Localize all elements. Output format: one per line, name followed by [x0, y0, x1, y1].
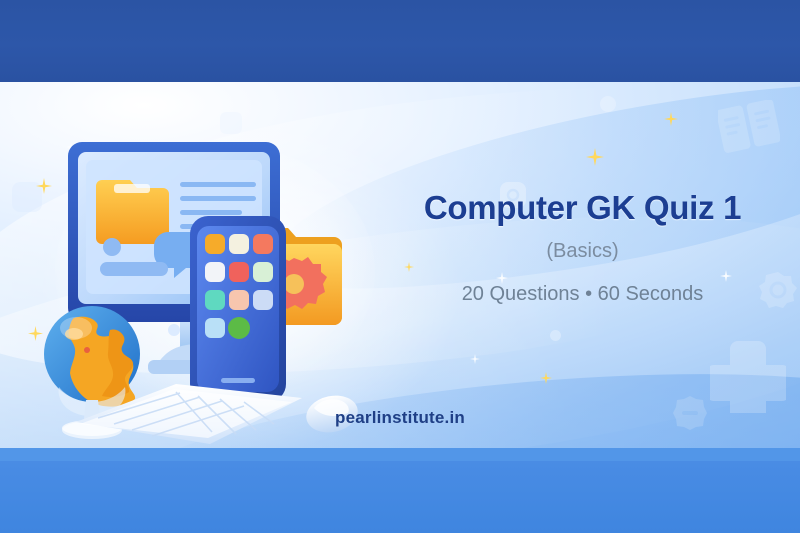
badge-icon	[758, 270, 798, 310]
book-icon	[718, 100, 780, 156]
subtitle: (Basics)	[410, 240, 755, 263]
quiz-banner: Computer GK Quiz 1 (Basics) 20 Questions…	[0, 0, 800, 533]
sparkle-icon	[540, 372, 552, 384]
computer-desk-illustration	[40, 122, 380, 452]
smartphone	[190, 216, 286, 402]
quiz-meta: 20 Questions • 60 Seconds	[410, 283, 755, 306]
plus-icon	[710, 337, 786, 413]
screen-folder-icon	[96, 180, 169, 244]
page-title: Computer GK Quiz 1	[410, 190, 755, 226]
sparkle-icon	[664, 112, 678, 126]
top-band	[0, 0, 800, 82]
banner-stage: Computer GK Quiz 1 (Basics) 20 Questions…	[0, 82, 800, 472]
text-block: Computer GK Quiz 1 (Basics) 20 Questions…	[410, 190, 755, 306]
sparkle-icon	[586, 148, 604, 166]
bokeh-dot	[550, 330, 561, 341]
sparkle-icon	[470, 354, 480, 364]
website-url: pearlinstitute.in	[0, 408, 800, 428]
squircle-icon	[12, 182, 42, 212]
bokeh-dot	[600, 96, 616, 112]
bottom-band	[0, 460, 800, 533]
